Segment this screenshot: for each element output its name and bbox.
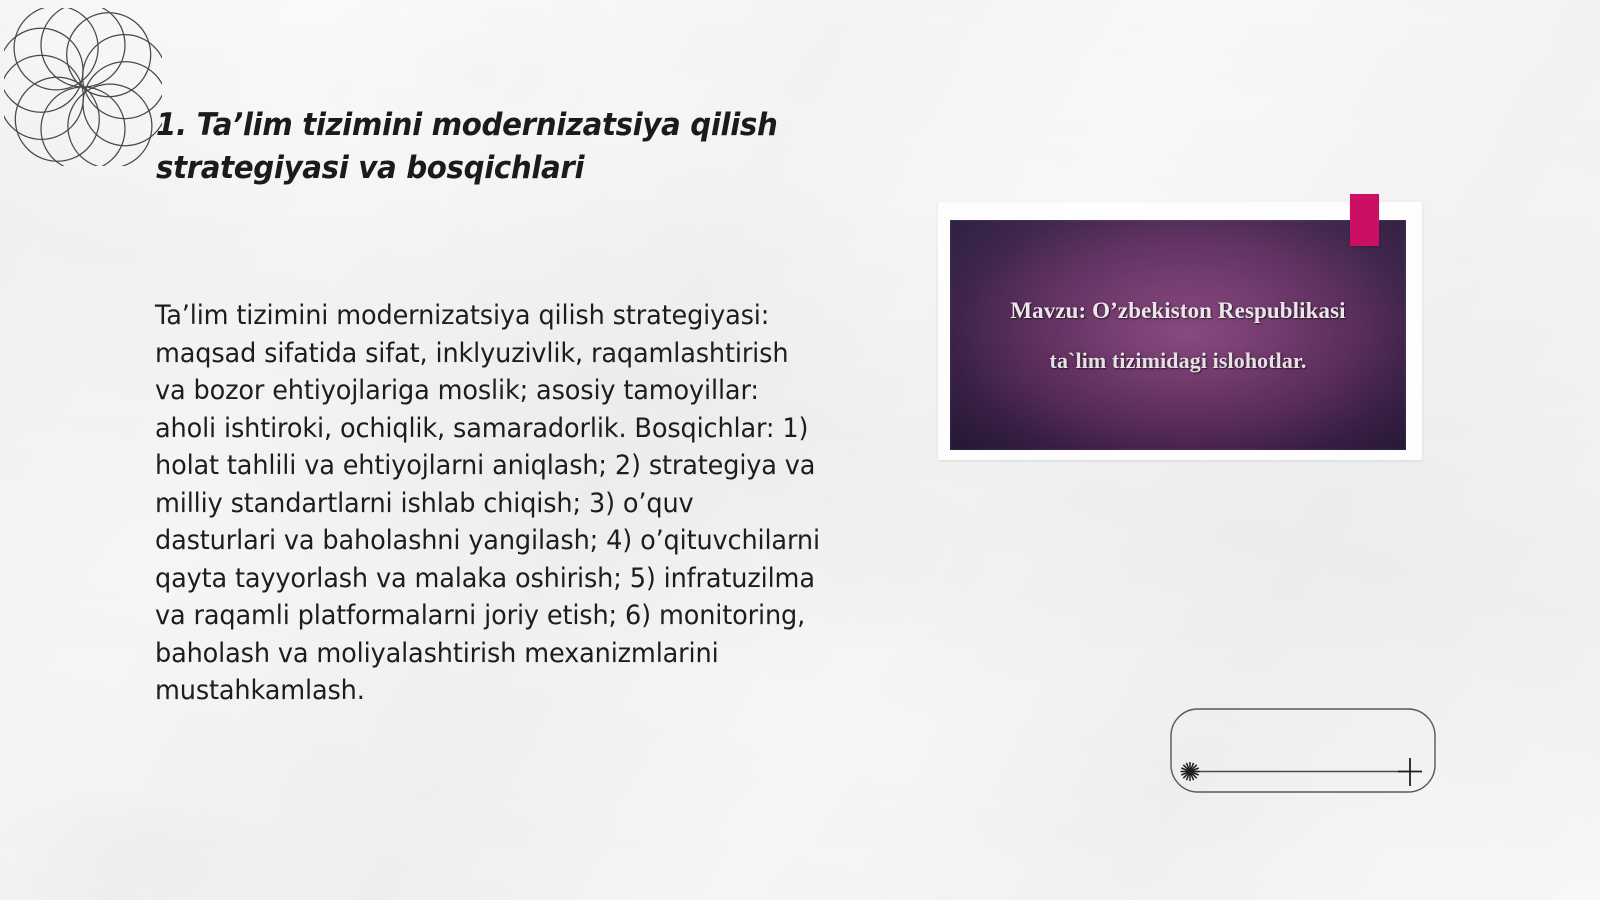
plus-icon (1398, 758, 1422, 786)
slide-canvas: 1. Ta’lim tizimini modernizatsiya qilish… (0, 0, 1600, 900)
photo-card-caption: Mavzu: O’zbekiston Respublikasi ta`lim t… (950, 286, 1406, 386)
photo-card-caption-line-2: ta`lim tizimidagi islohotlar. (950, 336, 1406, 386)
rounded-rectangle-line-decoration (1170, 708, 1436, 793)
photo-card-image: Mavzu: O’zbekiston Respublikasi ta`lim t… (950, 220, 1406, 450)
body-paragraph: Ta’lim tizimini modernizatsiya qilish st… (155, 297, 821, 710)
starburst-core (1187, 768, 1194, 775)
photo-card-caption-line-1: Mavzu: O’zbekiston Respublikasi (950, 286, 1406, 336)
spirograph-logo (4, 8, 162, 166)
accent-tab-marker (1350, 194, 1379, 246)
page-title: 1. Ta’lim tizimini modernizatsiya qilish… (156, 104, 807, 190)
